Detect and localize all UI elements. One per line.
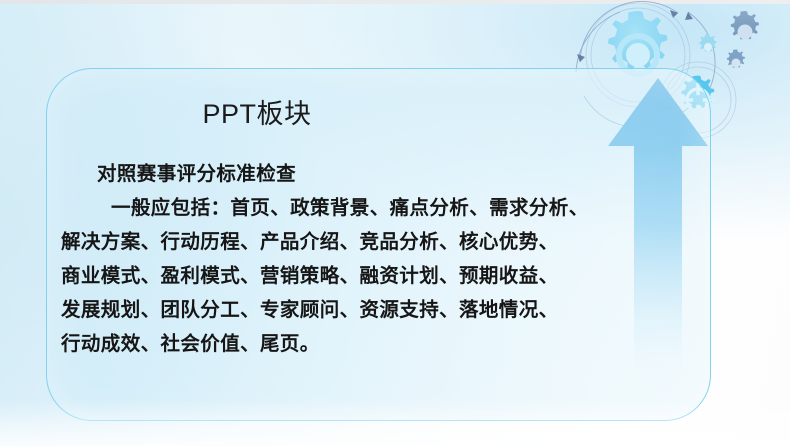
body-line-5: 发展规划、团队分工、专家顾问、资源支持、落地情况、 (61, 293, 691, 327)
page-title: PPT板块 (47, 101, 467, 128)
slide-canvas: PPT板块 对照赛事评分标准检查 一般应包括：首页、政策背景、痛点分析、需求分析… (0, 0, 790, 446)
body-line-3: 解决方案、行动历程、产品介绍、竞品分析、核心优势、 (61, 225, 691, 259)
content-card: PPT板块 对照赛事评分标准检查 一般应包括：首页、政策背景、痛点分析、需求分析… (46, 68, 711, 421)
bottom-fade-overlay (0, 400, 790, 446)
body-text-block: 对照赛事评分标准检查 一般应包括：首页、政策背景、痛点分析、需求分析、 解决方案… (61, 157, 691, 361)
top-edge-strip (0, 0, 790, 4)
body-line-4: 商业模式、盈利模式、营销策略、融资计划、预期收益、 (61, 259, 691, 293)
body-line-6: 行动成效、社会价值、尾页。 (61, 327, 691, 361)
body-line-2: 一般应包括：首页、政策背景、痛点分析、需求分析、 (61, 191, 691, 225)
body-line-1: 对照赛事评分标准检查 (61, 157, 691, 191)
